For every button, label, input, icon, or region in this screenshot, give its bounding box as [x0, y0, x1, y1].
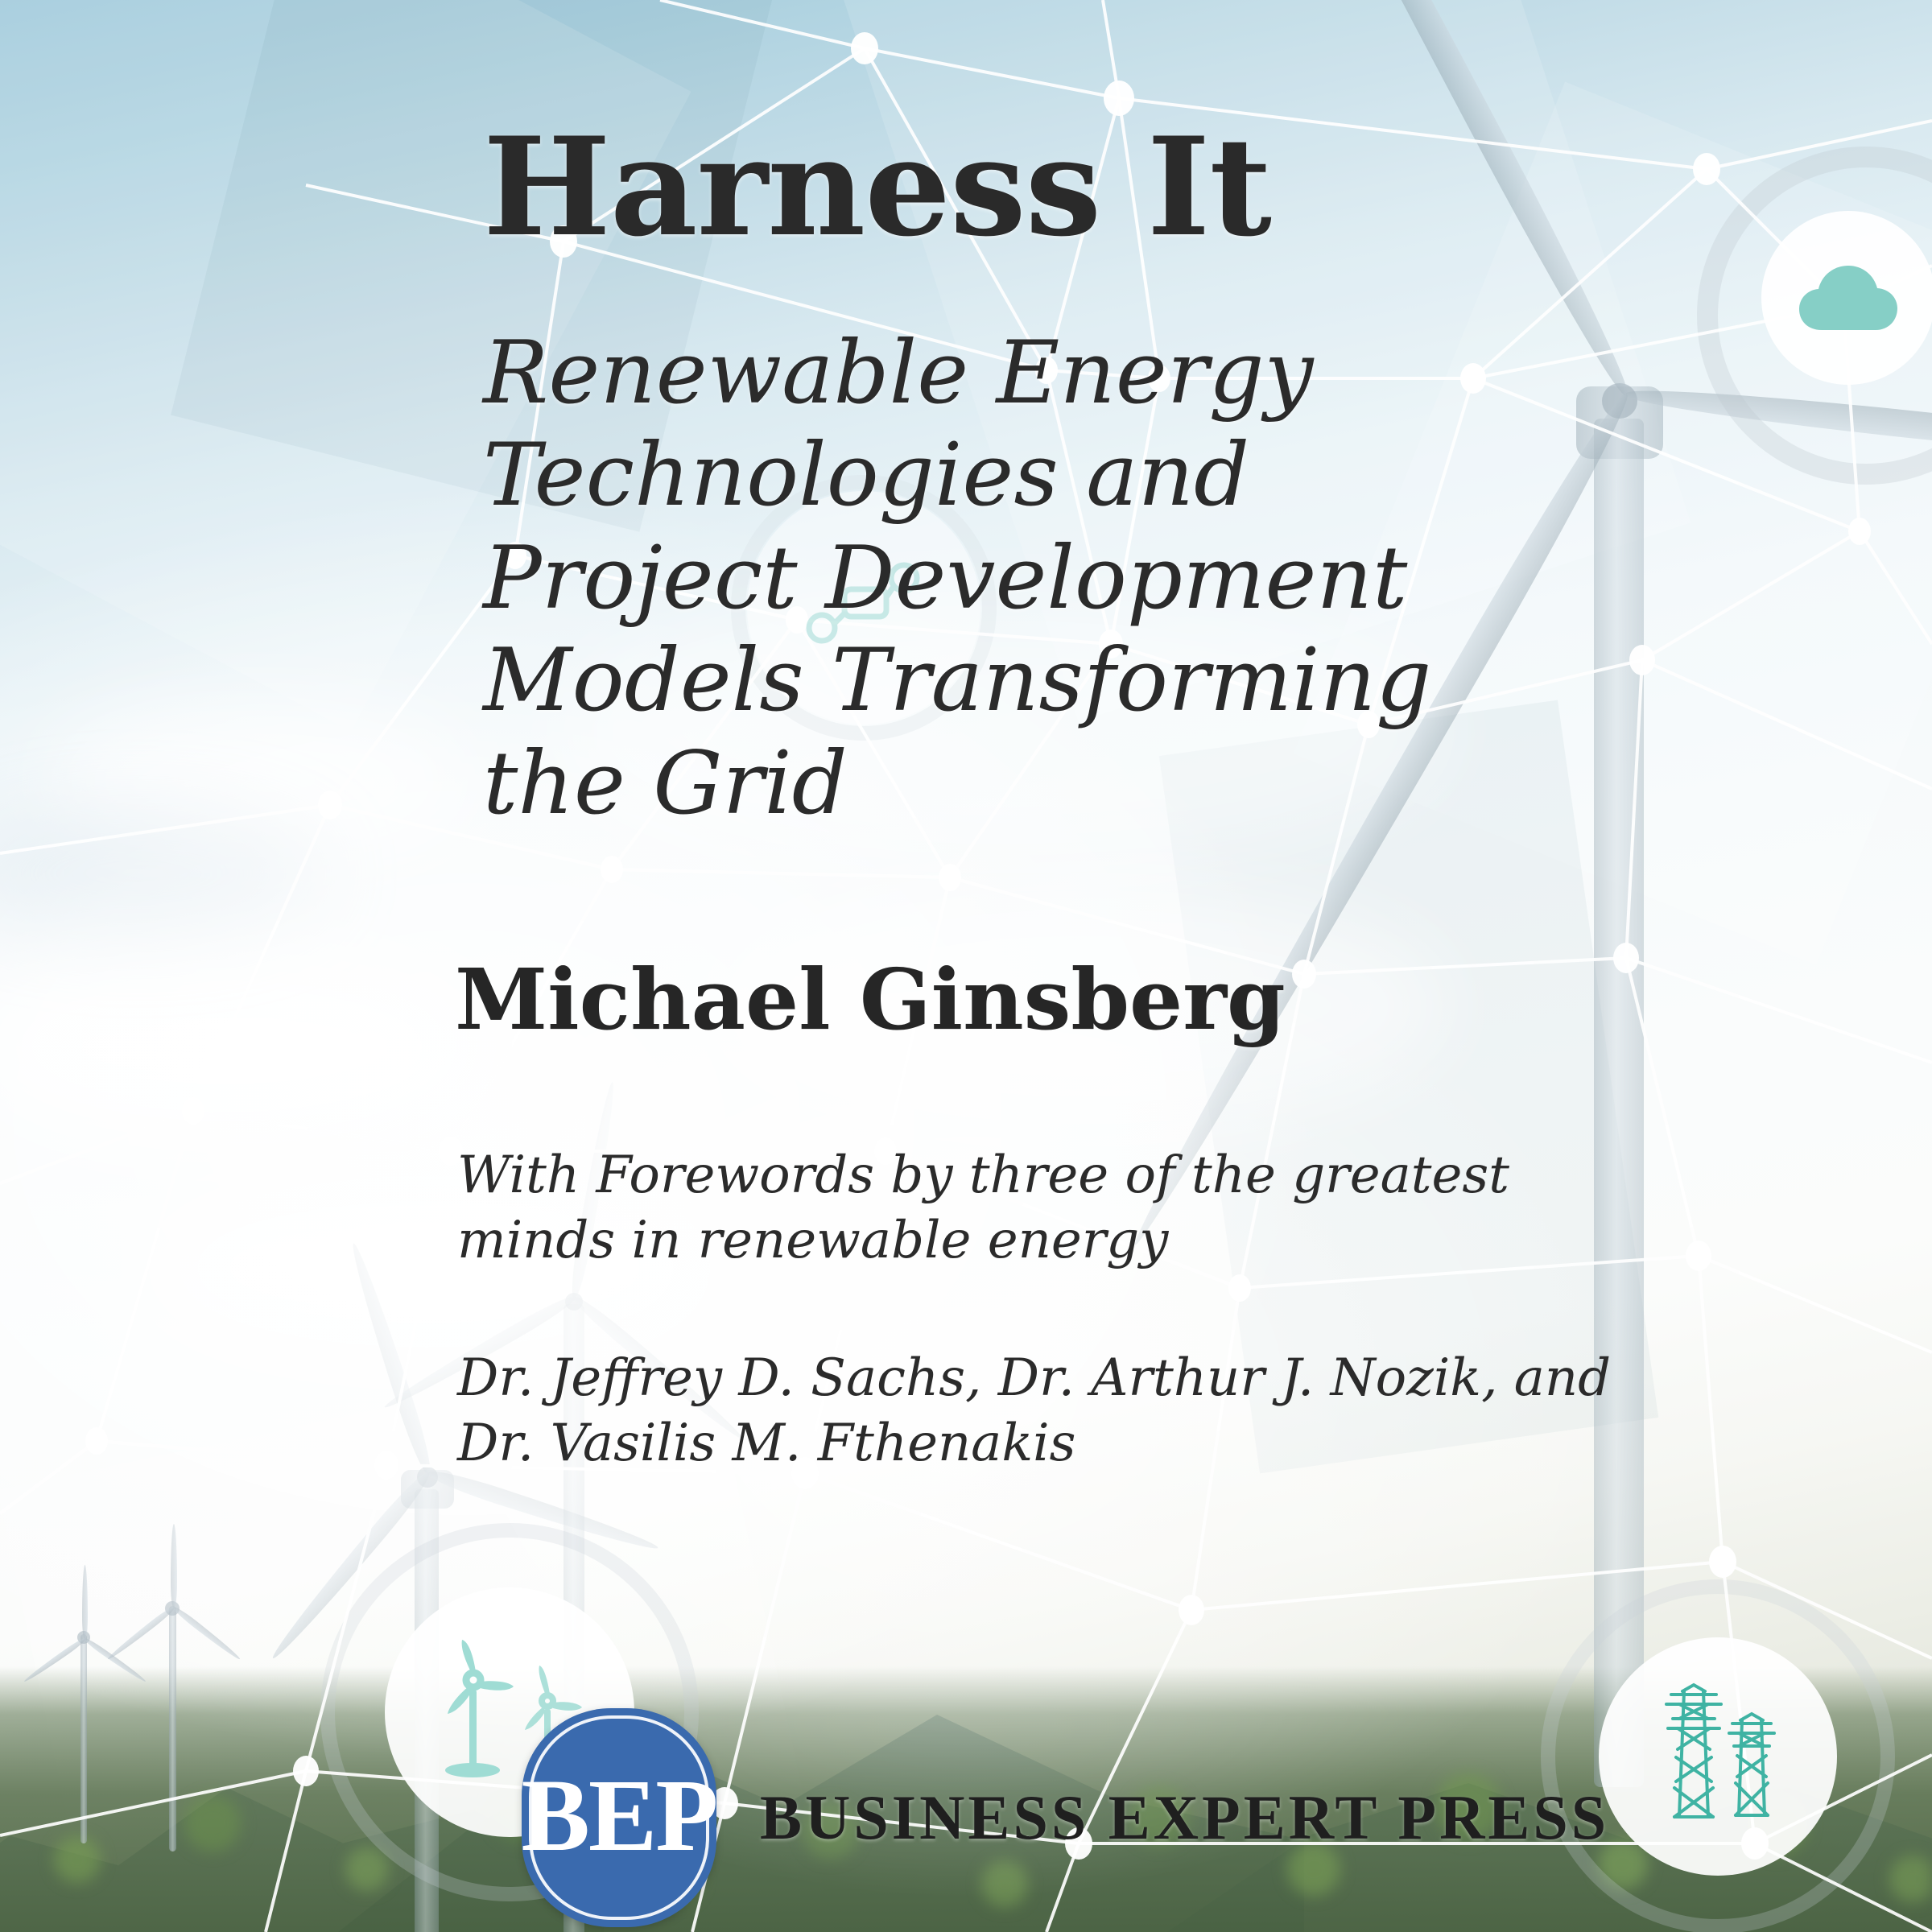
transmission-tower-badge	[1599, 1637, 1837, 1876]
book-cover: Harness It Renewable Energy Technologies…	[0, 0, 1932, 1932]
cloud-icon	[1796, 261, 1901, 335]
cloud-badge	[1761, 211, 1932, 385]
bep-logo-mark: BEP	[522, 1764, 717, 1867]
bep-logo: BEP	[522, 1708, 716, 1927]
book-subtitle: Renewable Energy Technologies and Projec…	[483, 322, 1570, 835]
author-name: Michael Ginsberg	[455, 958, 1286, 1042]
book-title: Harness It	[483, 119, 1271, 254]
transmission-tower-icon	[1637, 1680, 1798, 1833]
publisher-block: BEP BUSINESS EXPERT PRESS	[522, 1708, 1609, 1927]
contributor-names: Dr. Jeffrey D. Sachs, Dr. Arthur J. Nozi…	[457, 1346, 1624, 1477]
foreword-note: With Forewords by three of the greatest …	[457, 1143, 1584, 1274]
publisher-name: BUSINESS EXPERT PRESS	[760, 1781, 1609, 1854]
